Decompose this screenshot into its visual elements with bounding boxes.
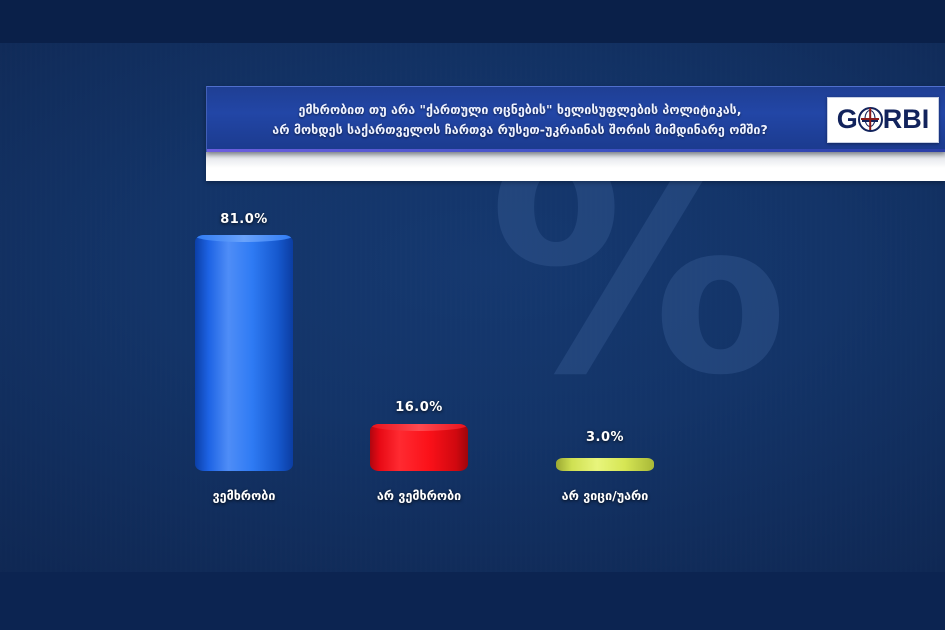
bar-category-label-1: არ ვემხრობი <box>377 488 461 503</box>
bar-1[interactable] <box>370 424 468 471</box>
bar-2[interactable] <box>556 458 654 471</box>
bar-group-1: 16.0% არ ვემხრობი <box>370 181 468 471</box>
bottom-background-band <box>0 572 945 630</box>
gorbi-logo: G RBI <box>827 97 939 143</box>
bar-category-label-0: ვემხრობი <box>213 488 276 503</box>
question-text: ემხრობით თუ არა "ქართული ოცნების" ხელისუ… <box>207 100 827 139</box>
bar-0[interactable] <box>195 235 293 471</box>
bar-value-label-1: 16.0% <box>395 400 443 415</box>
question-line-1: ემხრობით თუ არა "ქართული ოცნების" ხელისუ… <box>299 102 742 117</box>
gorbi-logo-rbi: RBI <box>883 104 930 135</box>
globe-icon <box>858 107 883 132</box>
gorbi-logo-g: G <box>837 104 858 135</box>
gorbi-logo-text: G RBI <box>837 104 930 135</box>
top-background-band <box>0 0 945 43</box>
question-banner: ემხრობით თუ არა "ქართული ოცნების" ხელისუ… <box>206 86 945 152</box>
bar-group-0: 81.0% ვემხრობი <box>195 181 293 471</box>
bar-value-label-0: 81.0% <box>220 212 268 227</box>
question-line-2: არ მოხდეს საქართველოს ჩართვა რუსეთ-უკრაი… <box>223 120 817 139</box>
poll-result-slide: % ემხრობით თუ არა "ქართული ოცნების" ხელი… <box>0 0 945 630</box>
bar-value-label-2: 3.0% <box>586 430 624 445</box>
bar-group-2: 3.0% არ ვიცი/უარი <box>556 181 654 471</box>
bar-category-label-2: არ ვიცი/უარი <box>562 488 649 503</box>
banner-white-strip <box>206 152 945 181</box>
bar-chart: 81.0% ვემხრობი 16.0% არ ვემხრობი 3.0% არ… <box>0 181 945 471</box>
